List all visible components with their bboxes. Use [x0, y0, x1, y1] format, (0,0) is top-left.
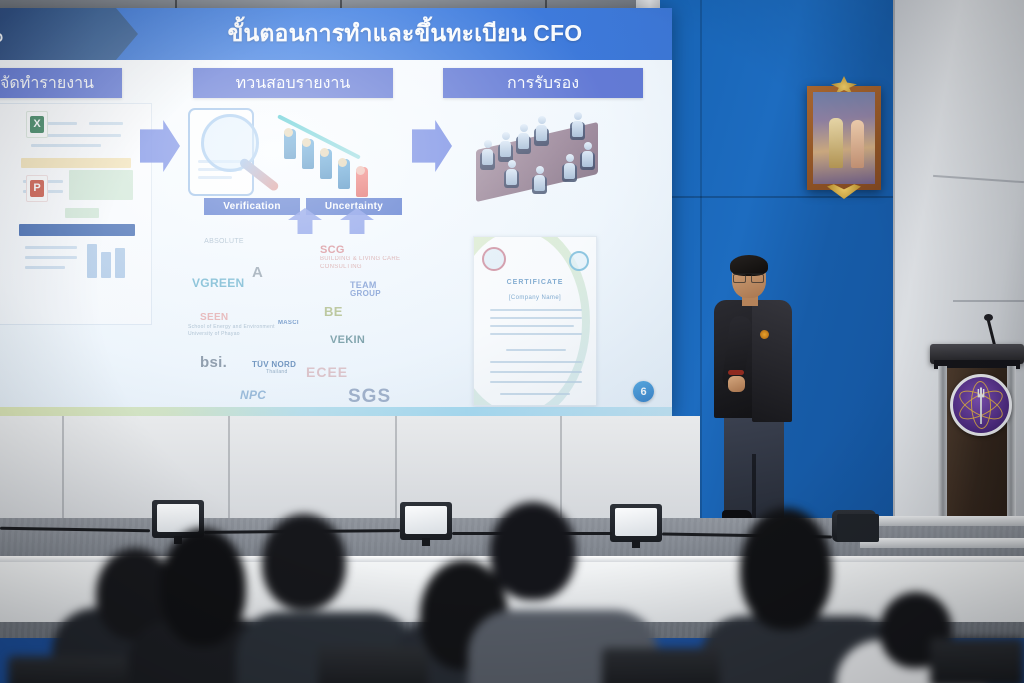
- powerpoint-icon: P: [26, 175, 48, 202]
- presentation-photo-scene: กรม TGO ขั้นตอนการทำและขึ้นทะเบียน CFO จ…: [0, 0, 1024, 683]
- audience-chair: [8, 656, 128, 683]
- logo-sgs: SGS: [348, 386, 391, 408]
- portrait-image: [813, 92, 875, 184]
- projection-screen: กรม TGO ขั้นตอนการทำและขึ้นทะเบียน CFO จ…: [0, 8, 672, 416]
- boardroom-illustration: [458, 108, 628, 218]
- logo-line-1: กรม: [0, 17, 138, 31]
- verifier-logo-wall: ABSOLUTE VGREEN A SCG BUILDING & LIVING …: [178, 236, 418, 414]
- logo-ecee: ECEE: [306, 364, 348, 380]
- logo-vgreen: VGREEN: [192, 276, 244, 290]
- logo-scg-line2: CONSULTING: [320, 264, 362, 270]
- podium-microphone-icon: [984, 314, 993, 321]
- audience-member: [262, 514, 346, 610]
- logo-tuv-nord: TÜV NORD: [252, 360, 296, 369]
- organization-logo: กรม TGO: [0, 8, 138, 60]
- report-document-mockup: [0, 103, 152, 325]
- flow-arrow-up-1-icon: [288, 208, 322, 234]
- certificate-heading: CERTIFICATE: [474, 279, 596, 286]
- uncertainty-people-illustration: [276, 106, 396, 198]
- flow-arrow-up-2-icon: [340, 208, 374, 234]
- certificate-sample: CERTIFICATE [Company Name]: [473, 236, 597, 406]
- excel-icon: X: [26, 111, 48, 138]
- column-heading-prepare: จัดทำรายงาน: [0, 68, 122, 98]
- slide-footer-gradient: [0, 407, 672, 416]
- audience-member: [160, 528, 246, 646]
- presentation-slide: กรม TGO ขั้นตอนการทำและขึ้นทะเบียน CFO จ…: [0, 8, 672, 416]
- verification-tag: Verification: [204, 198, 300, 215]
- certificate-seal-left-icon: [482, 247, 506, 271]
- logo-bsi: bsi.: [200, 354, 227, 371]
- certificate-seal-right-icon: [569, 251, 589, 271]
- logo-a-mark: A: [252, 264, 263, 281]
- logo-absolute: ABSOLUTE: [194, 238, 254, 245]
- logo-tuv-nord-sub: Thailand: [266, 369, 288, 375]
- audience-chair: [602, 648, 720, 683]
- slide-title: ขั้นตอนการทำและขึ้นทะเบียน CFO: [138, 8, 672, 60]
- slide-page-badge: 6: [633, 381, 654, 402]
- logo-scg: SCG: [320, 244, 345, 256]
- logo-scg-line1: BUILDING & LIVING CARE: [320, 256, 400, 262]
- seated-audience: [0, 470, 1024, 683]
- logo-group: GROUP: [350, 289, 381, 298]
- logo-npc: NPC: [240, 388, 266, 402]
- column-heading-certify: การรับรอง: [443, 68, 643, 98]
- logo-line-2: TGO: [0, 31, 138, 45]
- audience-chair: [930, 638, 1024, 683]
- audience-member: [740, 508, 832, 630]
- logo-be: BE: [324, 304, 343, 319]
- logo-seen: SEEN: [200, 312, 228, 323]
- glasses-icon: [733, 273, 764, 281]
- logo-seen-sub2: University of Phayao: [188, 331, 240, 337]
- logo-vekin: VEKIN: [330, 334, 365, 346]
- logo-seen-sub1: School of Energy and Environment: [188, 324, 275, 330]
- flow-arrow-2-icon: [412, 120, 452, 172]
- logo-masci: MASCI: [278, 320, 299, 326]
- lapel-pin-icon: [760, 330, 769, 339]
- audience-member: [490, 502, 576, 600]
- royal-portrait: [807, 86, 881, 190]
- university-seal-emblem: [950, 374, 1012, 436]
- column-heading-verify: ทวนสอบรายงาน: [193, 68, 393, 98]
- certificate-subject: [Company Name]: [474, 295, 596, 301]
- flow-arrow-1-icon: [140, 120, 180, 172]
- audience-chair: [318, 646, 428, 683]
